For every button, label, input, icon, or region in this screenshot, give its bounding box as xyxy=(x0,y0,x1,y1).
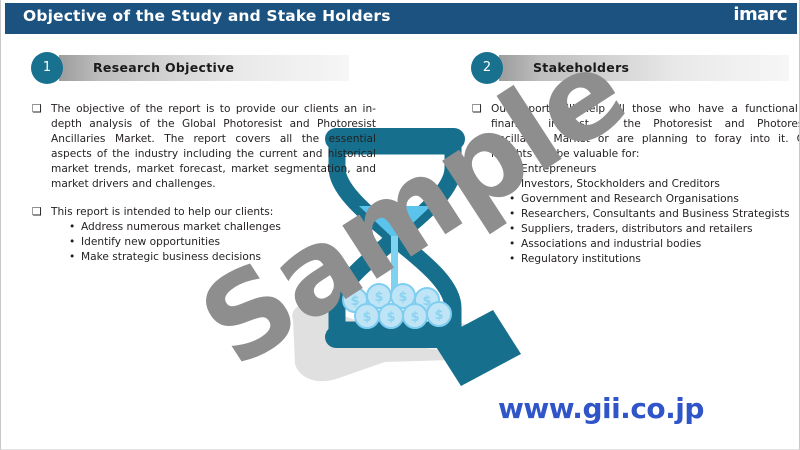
svg-text:$: $ xyxy=(386,310,395,325)
bullet-text: This report is intended to help our clie… xyxy=(51,206,273,218)
section-badge-1: 1 xyxy=(31,52,63,84)
coin-pile xyxy=(343,284,451,328)
slide: Objective of the Study and Stake Holders… xyxy=(0,0,800,450)
list-item: •Make strategic business decisions xyxy=(69,250,376,265)
list-item-label: Identify new opportunities xyxy=(81,236,220,248)
list-item: •Government and Research Organisations xyxy=(509,192,800,207)
section-title-1: Research Objective xyxy=(93,60,234,75)
sub-bullet-list: •Address numerous market challenges •Ide… xyxy=(51,220,376,265)
list-item: •Associations and industrial bodies xyxy=(509,237,800,252)
dot-bullet-icon: • xyxy=(509,207,515,222)
list-item-label: Regulatory institutions xyxy=(521,253,641,265)
svg-text:$: $ xyxy=(410,310,419,325)
dot-bullet-icon: • xyxy=(509,252,515,267)
list-item: •Entrepreneurs xyxy=(509,162,800,177)
section-badge-2: 2 xyxy=(471,52,503,84)
list-item-label: Associations and industrial bodies xyxy=(521,238,701,250)
list-item-label: Researchers, Consultants and Business St… xyxy=(521,208,790,220)
sub-bullet-list: •Entrepreneurs •Investors, Stockholders … xyxy=(491,162,800,267)
svg-text:$: $ xyxy=(374,290,383,305)
section-header-1: 1 Research Objective xyxy=(31,52,376,84)
square-bullet-icon: ❑ xyxy=(32,204,42,219)
bullet-item: ❑ The objective of the report is to prov… xyxy=(31,102,376,192)
content-block-1: ❑ The objective of the report is to prov… xyxy=(31,102,376,265)
column-research-objective: 1 Research Objective ❑ The objective of … xyxy=(31,52,376,265)
square-bullet-icon: ❑ xyxy=(472,101,482,116)
bullet-text: Our report will help all those who have … xyxy=(491,103,800,160)
dot-bullet-icon: • xyxy=(509,222,515,237)
list-item-label: Make strategic business decisions xyxy=(81,251,261,263)
dot-bullet-icon: • xyxy=(509,237,515,252)
bullet-item: ❑ Our report will help all those who hav… xyxy=(471,102,800,267)
svg-text:$: $ xyxy=(350,294,359,309)
list-item: •Suppliers, traders, distributors and re… xyxy=(509,222,800,237)
list-item-label: Entrepreneurs xyxy=(521,163,596,175)
list-item: •Regulatory institutions xyxy=(509,252,800,267)
content-block-2: ❑ Our report will help all those who hav… xyxy=(471,102,800,267)
imarc-logo: imarc xyxy=(733,4,787,25)
list-item: •Researchers, Consultants and Business S… xyxy=(509,207,800,222)
list-item-label: Investors, Stockholders and Creditors xyxy=(521,178,720,190)
list-item-label: Suppliers, traders, distributors and ret… xyxy=(521,223,753,235)
dot-bullet-icon: • xyxy=(509,162,515,177)
site-url-watermark: www.gii.co.jp xyxy=(498,392,704,425)
svg-text:$: $ xyxy=(362,310,371,325)
bullet-text: The objective of the report is to provid… xyxy=(51,103,376,190)
list-item: •Identify new opportunities xyxy=(69,235,376,250)
slide-header: Objective of the Study and Stake Holders… xyxy=(1,0,800,34)
hand-shape xyxy=(292,304,521,386)
list-item: •Address numerous market challenges xyxy=(69,220,376,235)
svg-text:$: $ xyxy=(422,294,431,309)
dot-bullet-icon: • xyxy=(509,177,515,192)
section-header-2: 2 Stakeholders xyxy=(471,52,800,84)
bullet-item: ❑ This report is intended to help our cl… xyxy=(31,205,376,265)
dot-bullet-icon: • xyxy=(69,250,75,265)
section-title-2: Stakeholders xyxy=(533,60,629,75)
dot-bullet-icon: • xyxy=(69,220,75,235)
square-bullet-icon: ❑ xyxy=(32,101,42,116)
dot-bullet-icon: • xyxy=(509,192,515,207)
list-item: •Investors, Stockholders and Creditors xyxy=(509,177,800,192)
svg-text:$: $ xyxy=(434,308,443,323)
column-stakeholders: 2 Stakeholders ❑ Our report will help al… xyxy=(471,52,800,267)
list-item-label: Address numerous market challenges xyxy=(81,221,281,233)
page-title: Objective of the Study and Stake Holders xyxy=(23,7,391,25)
list-item-label: Government and Research Organisations xyxy=(521,193,739,205)
svg-text:$: $ xyxy=(398,290,407,305)
dot-bullet-icon: • xyxy=(69,235,75,250)
header-divider xyxy=(1,34,800,36)
